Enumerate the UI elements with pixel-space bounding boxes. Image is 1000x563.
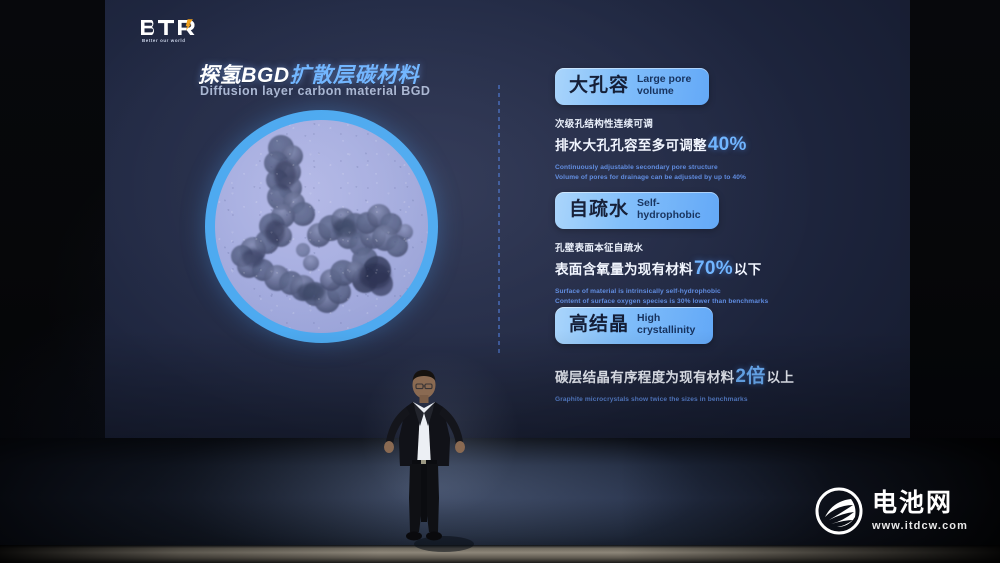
feature-cn-large-3: 碳层结晶有序程度为现有材料2倍以上 (555, 361, 794, 388)
feature-chip-en-2-line1: Self- (637, 198, 701, 210)
feature-cn-small-1: 次级孔结构性连续可调 (555, 116, 748, 130)
feature-block-large-pore-volume: 大孔容 Large pore volume 次级孔结构性连续可调 排水大孔孔容至… (555, 68, 748, 183)
carbon-particle-micrograph (215, 120, 428, 333)
feature-en-1-line1: Continuously adjustable secondary pore s… (555, 163, 748, 173)
feature-en-3: Graphite microcrystals show twice the si… (555, 395, 794, 405)
vertical-dashed-divider (498, 85, 500, 353)
feature-chip-en-2-line2: hydrophobic (637, 210, 701, 222)
conference-stage-scene: Better our world 探氢BGD扩散层碳材料 Diffusion l… (0, 0, 1000, 563)
feature-chip-high-crystallinity: 高结晶 High crystallinity (555, 307, 713, 344)
feature-chip-self-hydrophobic: 自疏水 Self- hydrophobic (555, 192, 719, 229)
presenter-belt-buckle (421, 460, 426, 465)
feature-en-3-line1: Graphite microcrystals show twice the si… (555, 395, 794, 405)
feature-block-high-crystallinity: 高结晶 High crystallinity 碳层结晶有序程度为现有材料2倍以上… (555, 307, 794, 405)
feature-chip-en-2: Self- hydrophobic (637, 198, 701, 222)
feature-cn-large-2: 表面含氧量为现有材料70%以下 (555, 258, 768, 280)
presenter-hand-right (455, 441, 465, 453)
presenter-shoe-left (406, 532, 422, 541)
feature-cn-large-3-num: 2倍 (734, 366, 766, 387)
btr-logo-mark (140, 19, 210, 36)
feature-chip-cn-3: 高结晶 (569, 314, 629, 336)
feature-block-self-hydrophobic: 自疏水 Self- hydrophobic 孔壁表面本征自疏水 表面含氧量为现有… (555, 192, 768, 307)
feature-cn-large-2-num: 70% (693, 258, 734, 279)
feature-chip-en-3-line2: crystallinity (637, 325, 695, 337)
feature-chip-en-3: High crystallinity (637, 313, 695, 337)
presenter-neck (420, 395, 429, 403)
feature-en-1: Continuously adjustable secondary pore s… (555, 163, 748, 183)
feature-chip-cn-1: 大孔容 (569, 75, 629, 97)
stage-front-edge-shading (0, 545, 1000, 563)
feature-chip-en-1: Large pore volume (637, 74, 691, 98)
feature-cn-large-3-pre: 碳层结晶有序程度为现有材料 (555, 370, 734, 385)
presenter-figure (372, 366, 476, 558)
feature-chip-en-3-line1: High (637, 313, 695, 325)
slide-title-english: Diffusion layer carbon material BGD (200, 84, 430, 98)
micrograph-grain-texture (215, 120, 428, 333)
feature-cn-small-2: 孔壁表面本征自疏水 (555, 240, 768, 254)
feature-cn-large-2-post: 以下 (734, 262, 762, 277)
micrograph-ring-frame (205, 110, 438, 343)
presenter-speaker (372, 366, 476, 558)
feature-chip-en-1-line1: Large pore (637, 74, 691, 86)
presenter-shoe-right (426, 532, 442, 541)
presenter-hand-left (384, 441, 394, 453)
watermark-url: www.itdcw.com (872, 520, 968, 532)
watermark-text: 电池网 www.itdcw.com (872, 491, 968, 532)
feature-en-2: Surface of material is intrinsically sel… (555, 287, 768, 307)
watermark-name: 电池网 (872, 491, 968, 516)
btr-logo: Better our world (140, 19, 210, 43)
feature-cn-large-1-pre: 排水大孔孔容至多可调整 (555, 138, 707, 153)
feature-chip-large-pore-volume: 大孔容 Large pore volume (555, 68, 709, 105)
presenter-shadow (414, 536, 474, 552)
feature-cn-large-1: 排水大孔孔容至多可调整40% (555, 134, 748, 156)
feature-en-2-line1: Surface of material is intrinsically sel… (555, 287, 768, 297)
watermark-itdcw: 电池网 www.itdcw.com (815, 487, 968, 535)
feature-en-2-line2: Content of surface oxygen species is 30%… (555, 297, 768, 307)
feature-chip-en-1-line2: volume (637, 86, 691, 98)
btr-logo-tagline: Better our world (142, 38, 210, 43)
itdcw-globe-icon (815, 487, 863, 535)
feature-chip-cn-2: 自疏水 (569, 199, 629, 221)
feature-cn-large-3-post: 以上 (767, 370, 795, 385)
feature-cn-large-2-pre: 表面含氧量为现有材料 (555, 262, 693, 277)
feature-en-1-line2: Volume of pores for drainage can be adju… (555, 173, 748, 183)
presentation-slide: Better our world 探氢BGD扩散层碳材料 Diffusion l… (105, 0, 910, 440)
feature-cn-large-1-num: 40% (707, 134, 748, 155)
presenter-trouser-center (421, 464, 427, 522)
presenter-trouser-right (426, 464, 439, 532)
presenter-trouser-left (409, 464, 422, 532)
